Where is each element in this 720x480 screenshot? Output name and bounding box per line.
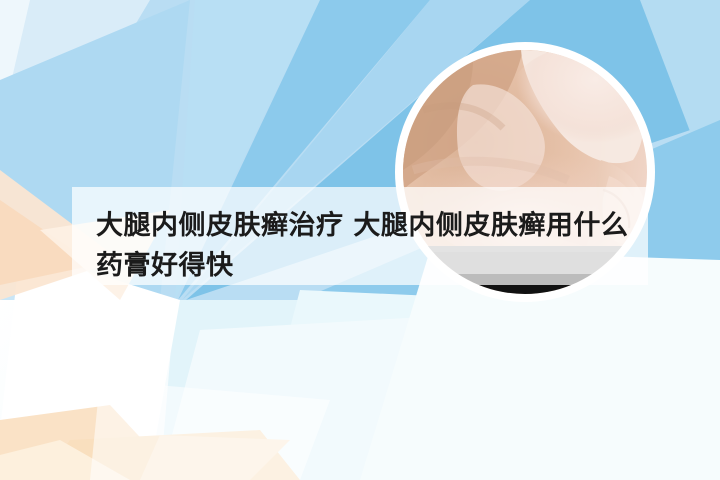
page-title-line-1: 大腿内侧皮肤癣治疗 大腿内侧皮肤癣用什么 (96, 210, 628, 241)
page-title-line-2: 药膏好得快 (96, 250, 234, 281)
page-title: 大腿内侧皮肤癣治疗 大腿内侧皮肤癣用什么药膏好得快 (96, 206, 636, 286)
article-thumbnail-card: 大腿内侧皮肤癣治疗 大腿内侧皮肤癣用什么药膏好得快 (0, 0, 720, 480)
